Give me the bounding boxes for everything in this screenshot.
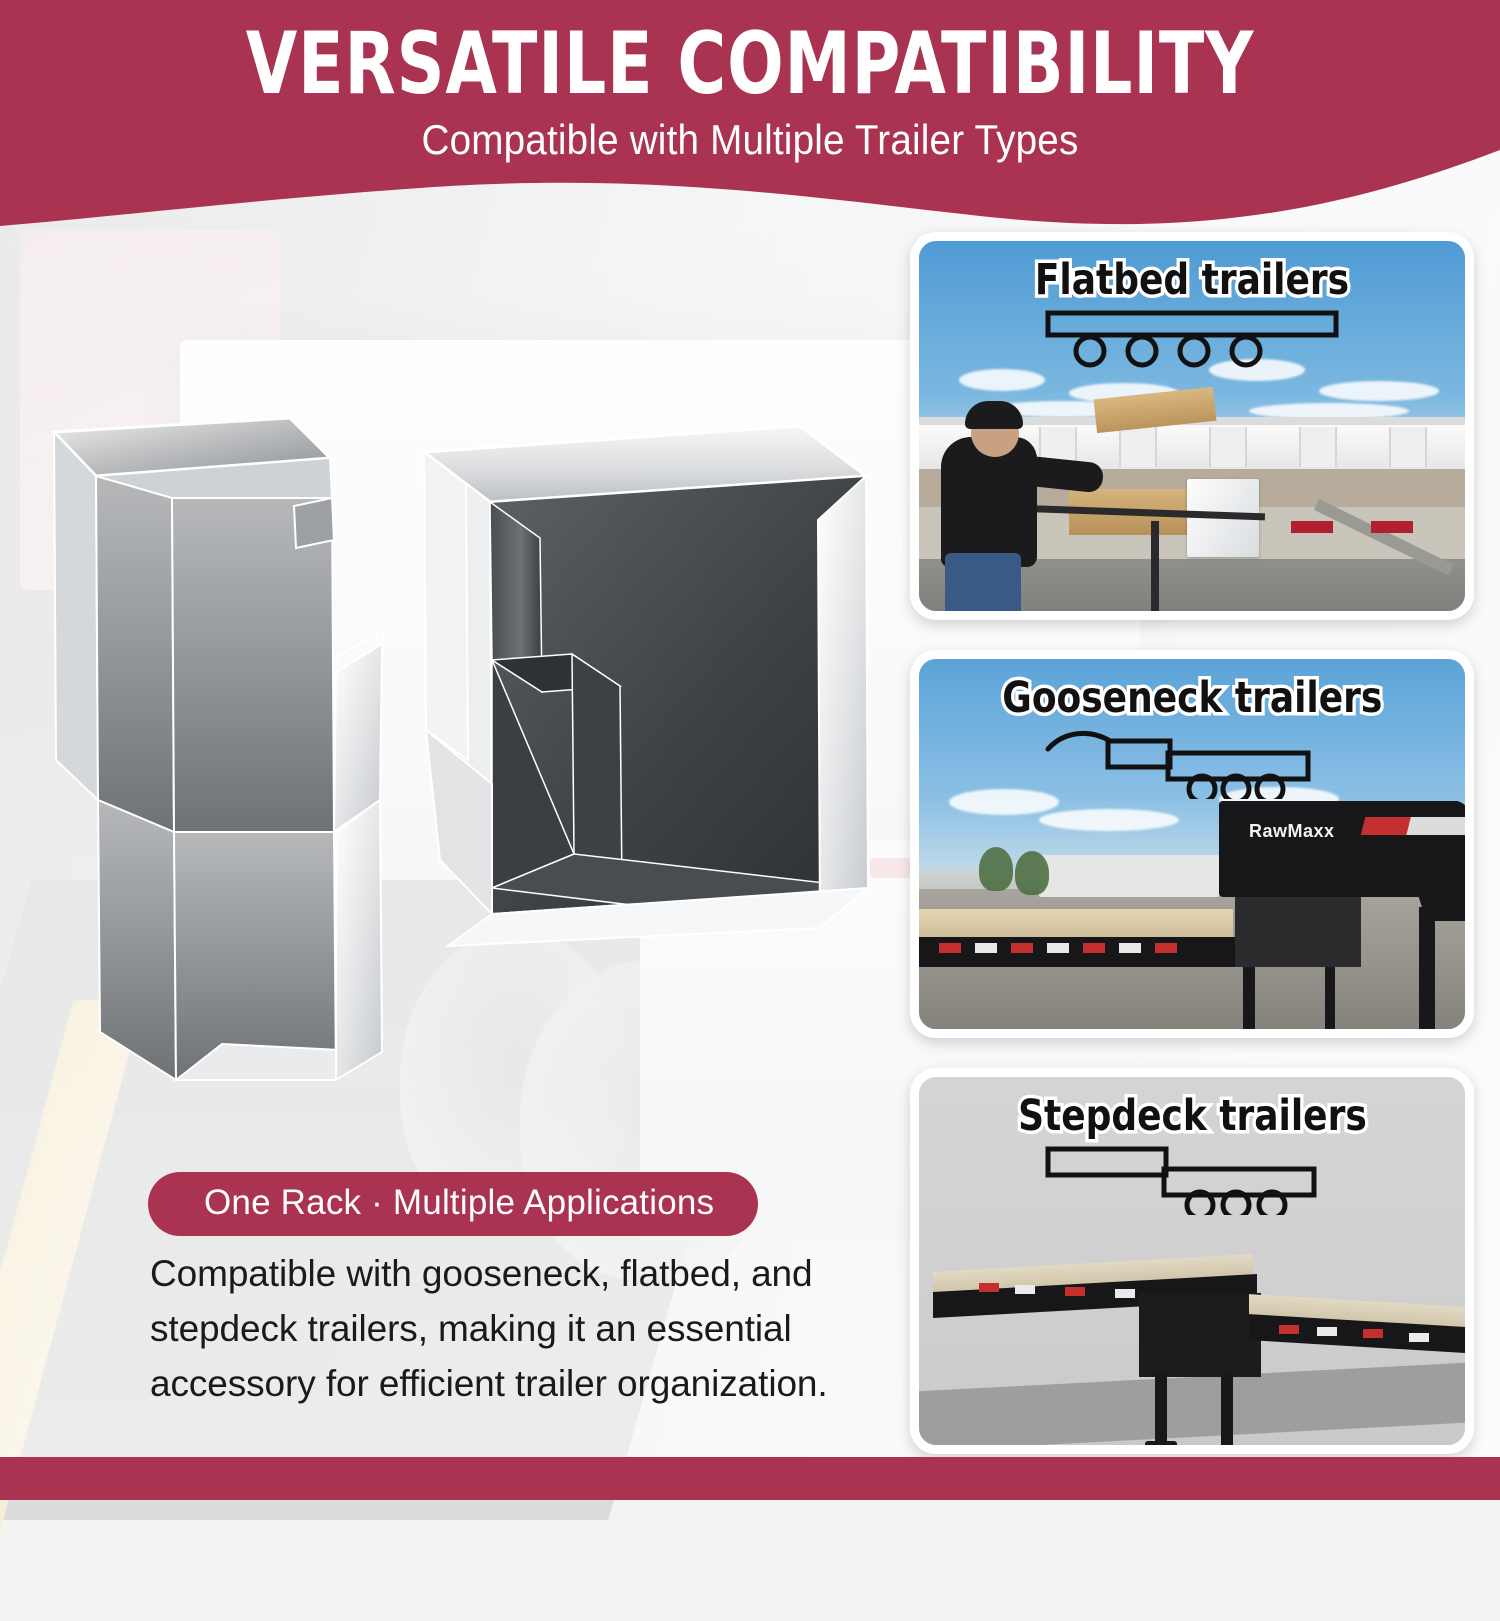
product-render-svg [0, 380, 900, 1140]
card-flatbed-trailers[interactable]: Flatbed trailers [910, 232, 1474, 620]
callout-body-text: Compatible with gooseneck, flatbed, and … [150, 1247, 870, 1411]
callout-badge: One Rack · Multiple Applications [148, 1172, 758, 1236]
header-banner: VERSATILE COMPATIBILITY Compatible with … [0, 0, 1500, 240]
product-left-piece [54, 418, 384, 1080]
callout-badge-label: One Rack · Multiple Applications [204, 1183, 714, 1222]
card-title-gooseneck: Gooseneck trailers [1002, 673, 1382, 723]
header-watermark [40, 30, 270, 200]
gooseneck-diagram [919, 727, 1465, 804]
product-render-group [0, 380, 900, 1140]
product-right-piece [424, 426, 868, 946]
card-title-stepdeck: Stepdeck trailers [1018, 1091, 1367, 1141]
flatbed-diagram [919, 309, 1465, 376]
card-gooseneck-trailers[interactable]: RawMaxx Gooseneck trailers [910, 650, 1474, 1038]
stepdeck-diagram [919, 1145, 1465, 1220]
bottom-accent-bar [0, 1457, 1500, 1500]
trailer-type-card-list: Flatbed trailers [910, 232, 1462, 1484]
card-stepdeck-trailers[interactable]: Stepdeck trailers [910, 1068, 1474, 1454]
card-title-flatbed: Flatbed trailers [1035, 255, 1349, 305]
